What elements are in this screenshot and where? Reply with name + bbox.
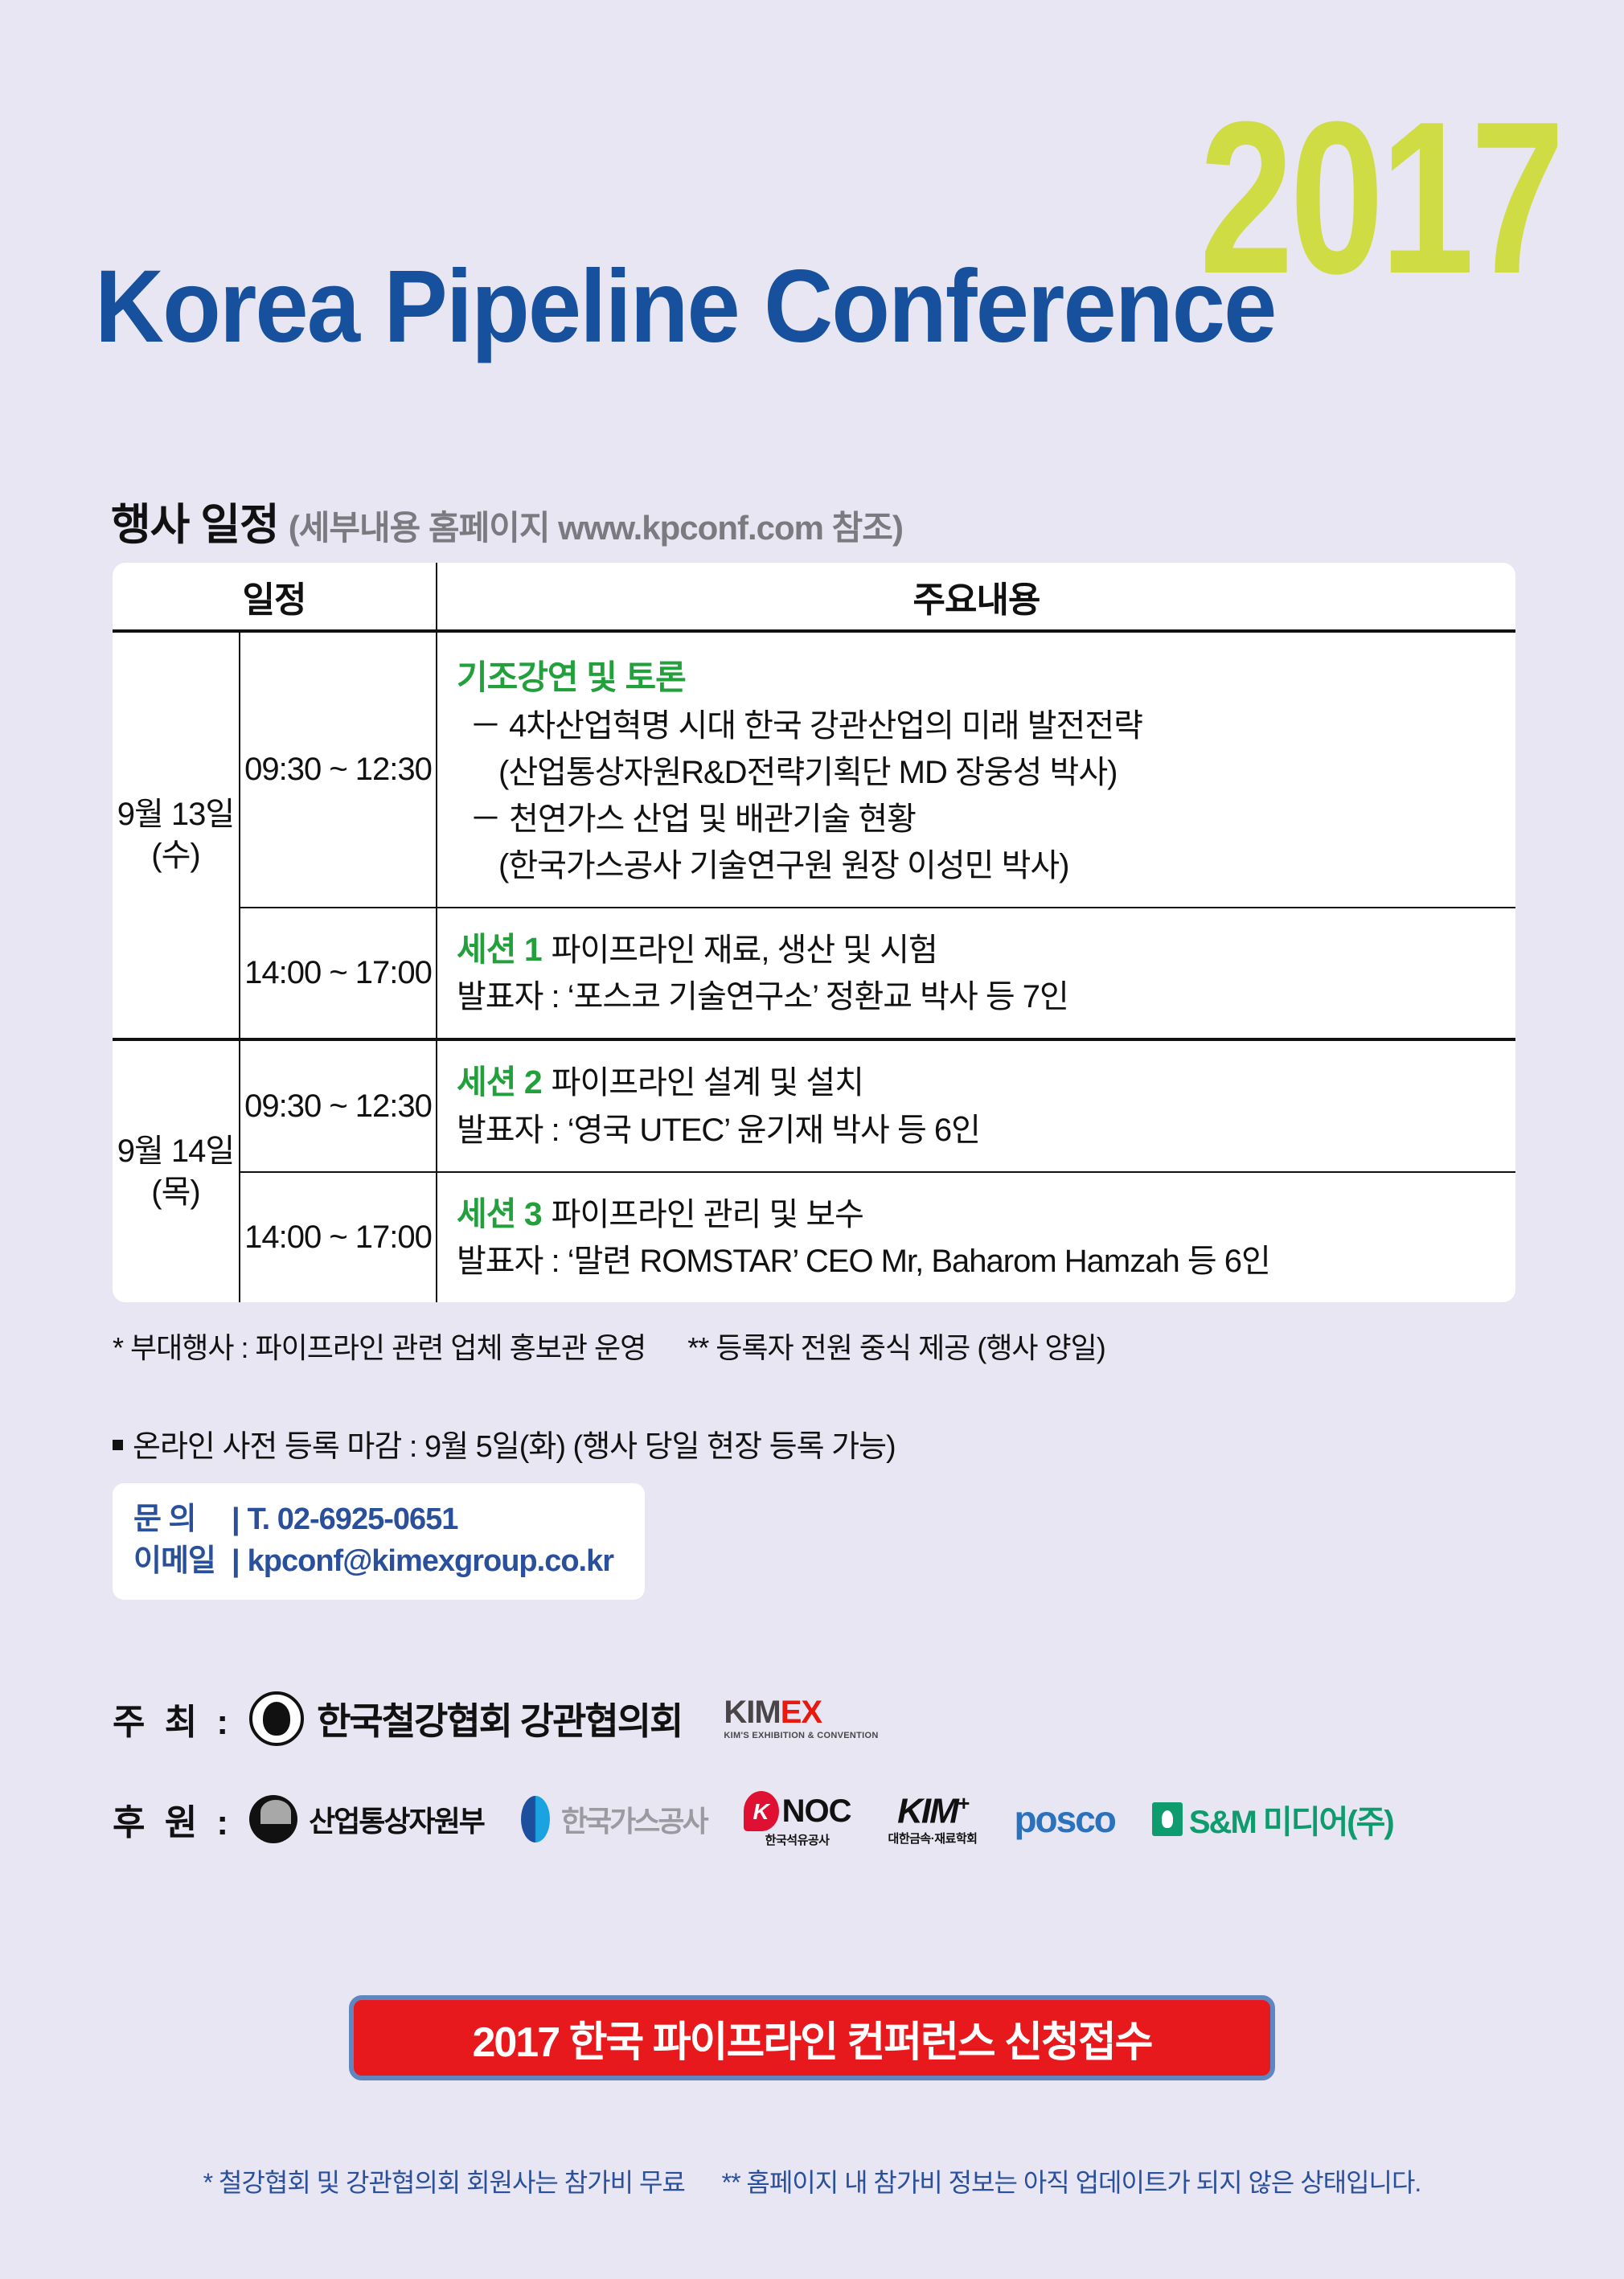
logo-motie: 산업통상자원부 [249, 1795, 484, 1843]
bottom-footnote: * 철강협회 및 강관협의회 회원사는 참가비 무료 ** 홈페이지 내 참가비… [0, 2162, 1624, 2199]
snm-emblem-icon [1152, 1802, 1183, 1836]
footnote-fee-update: ** 홈페이지 내 참가비 정보는 아직 업데이트가 되지 않은 상태입니다. [722, 2168, 1421, 2197]
session-title-line: 세션 1파이프라인 재료, 생산 및 시험 [457, 926, 1515, 973]
kim-word: KIM [897, 1791, 958, 1830]
session-tag: 세션 2 [457, 1064, 542, 1101]
session-topic: 파이프라인 재료, 생산 및 시험 [552, 933, 937, 968]
motie-taegeuk-icon [249, 1795, 297, 1843]
page-title: Korea Pipeline Conference [95, 256, 1275, 359]
session-tag: 세션 3 [457, 1195, 542, 1232]
schedule-heading: 행사 일정 (세부내용 홈페이지 www.kpconf.com 참조) [111, 489, 903, 552]
kimex-tagline: KIM'S EXHIBITION & CONVENTION [724, 1732, 878, 1740]
knoc-subtitle: 한국석유공사 [765, 1834, 830, 1847]
contact-email-label: 이메일 [133, 1541, 224, 1583]
kimex-kim: KIM [724, 1695, 780, 1730]
date-line-2: (목) [113, 1172, 239, 1213]
logo-kimex: KIMEX KIM'S EXHIBITION & CONVENTION [724, 1696, 878, 1740]
logo-posco: posco [1014, 1797, 1114, 1841]
logo-kogas: 한국가스공사 [521, 1796, 707, 1842]
table-row: 14:00 ~ 17:00 세션 1파이프라인 재료, 생산 및 시험 발표자 … [113, 908, 1515, 1039]
motie-name: 산업통상자원부 [309, 1798, 484, 1840]
keynote-line-2: (산업통상자원R&D전략기획단 MD 장웅성 박사) [457, 749, 1515, 796]
table-row: 14:00 ~ 17:00 세션 3파이프라인 관리 및 보수 발표자 : ‘말… [113, 1172, 1515, 1302]
session-speaker: 발표자 : ‘영국 UTEC’ 윤기재 박사 등 6인 [457, 1107, 1515, 1154]
table-row: 9월 13일 (수) 09:30 ~ 12:30 기조강연 및 토론 － 4차산… [113, 631, 1515, 908]
logo-knoc: NOC 한국석유공사 [744, 1791, 851, 1847]
contact-phone-value[interactable]: T. 02-6925-0651 [248, 1502, 458, 1536]
contact-phone-row: 문 의|T. 02-6925-0651 [133, 1499, 624, 1541]
date-line-1: 9월 14일 [113, 1131, 239, 1172]
register-button-label: 2017 한국 파이프라인 컨퍼런스 신청접수 [472, 2008, 1151, 2068]
session-tag: 세션 1 [457, 931, 542, 968]
table-row: 9월 14일 (목) 09:30 ~ 12:30 세션 2파이프라인 설계 및 … [113, 1039, 1515, 1171]
keynote-line-1: － 4차산업혁명 시대 한국 강관산업의 미래 발전전략 [457, 703, 1515, 749]
session-speaker: 발표자 : ‘포스코 기술연구소’ 정환교 박사 등 7인 [457, 973, 1515, 1020]
logo-ksa: 한국철강협회 강관협의회 [249, 1691, 682, 1746]
kogas-symbol-icon [521, 1796, 550, 1842]
keynote-line-4: (한국가스공사 기술연구원 원장 이성민 박사) [457, 842, 1515, 889]
support-label: 후 원 : [113, 1793, 233, 1845]
logo-kim-plus: KIM+ 대한금속·재료학회 [888, 1793, 978, 1846]
kim-wordmark: KIM+ [897, 1793, 968, 1830]
host-name: 한국철강협회 강관협의회 [317, 1692, 682, 1745]
footnote-free-members: * 철강협회 및 강관협의회 회원사는 참가비 무료 [203, 2168, 685, 2197]
snm-name: S&M 미디어(주) [1189, 1796, 1393, 1842]
table-footnotes: * 부대행사 : 파이프라인 관련 업체 홍보관 운영 ** 등록자 전원 중식… [113, 1325, 1105, 1367]
supporters-section: 후 원 : 산업통상자원부 한국가스공사 NOC 한국석유공사 KIM+ [113, 1777, 1393, 1861]
title-block: 2017 Korea Pipeline Conference [0, 0, 1624, 418]
divider-pipe-icon: | [232, 1502, 240, 1536]
cell-content-keynote: 기조강연 및 토론 － 4차산업혁명 시대 한국 강관산업의 미래 발전전략 (… [437, 631, 1515, 908]
table-header-row: 일정 주요내용 [113, 563, 1515, 631]
cell-date-sep14: 9월 14일 (목) [113, 1039, 240, 1302]
cell-content-session2: 세션 2파이프라인 설계 및 설치 발표자 : ‘영국 UTEC’ 윤기재 박사… [437, 1039, 1515, 1171]
host-label: 주 최 : [113, 1693, 233, 1744]
date-line-1: 9월 13일 [113, 794, 239, 835]
divider-pipe-icon: | [232, 1544, 240, 1578]
column-header-content: 주요내용 [437, 563, 1515, 631]
cell-time: 09:30 ~ 12:30 [240, 1039, 437, 1171]
session-topic: 파이프라인 설계 및 설치 [552, 1065, 863, 1101]
footnote-lunch: ** 등록자 전원 중식 제공 (행사 양일) [687, 1331, 1105, 1364]
pre-registration-text: 온라인 사전 등록 마감 : 9월 5일(화) (행사 당일 현장 등록 가능) [133, 1430, 896, 1464]
contact-box: 문 의|T. 02-6925-0651 이메일|kpconf@kimexgrou… [113, 1483, 645, 1600]
contact-email-value[interactable]: kpconf@kimexgroup.co.kr [248, 1544, 613, 1578]
session-title-line: 세션 2파이프라인 설계 및 설치 [457, 1059, 1515, 1106]
poster-root: 2017 Korea Pipeline Conference 행사 일정 (세부… [0, 0, 1624, 2279]
register-button[interactable]: 2017 한국 파이프라인 컨퍼런스 신청접수 [349, 1995, 1275, 2080]
knoc-word: NOC [782, 1795, 851, 1827]
schedule-heading-bold: 행사 일정 [111, 489, 279, 552]
session-title-line: 세션 3파이프라인 관리 및 보수 [457, 1191, 1515, 1238]
logo-snm-media: S&M 미디어(주) [1152, 1796, 1393, 1842]
pre-registration-note: 온라인 사전 등록 마감 : 9월 5일(화) (행사 당일 현장 등록 가능) [113, 1421, 896, 1465]
keynote-title: 기조강연 및 토론 [457, 650, 1515, 699]
cell-time: 14:00 ~ 17:00 [240, 1172, 437, 1302]
session-topic: 파이프라인 관리 및 보수 [552, 1197, 863, 1232]
footnote-side-event: * 부대행사 : 파이프라인 관련 업체 홍보관 운영 [113, 1331, 646, 1364]
kim-plus-icon: + [958, 1791, 968, 1815]
cell-time: 09:30 ~ 12:30 [240, 631, 437, 908]
cell-content-session1: 세션 1파이프라인 재료, 생산 및 시험 발표자 : ‘포스코 기술연구소’ … [437, 908, 1515, 1039]
cell-date-sep13: 9월 13일 (수) [113, 631, 240, 1039]
ksa-emblem-icon [249, 1691, 304, 1746]
schedule-heading-sub: (세부내용 홈페이지 www.kpconf.com 참조) [289, 501, 903, 550]
kogas-name: 한국가스공사 [561, 1798, 707, 1840]
cell-time: 14:00 ~ 17:00 [240, 908, 437, 1039]
knoc-k-icon [744, 1791, 779, 1831]
session-speaker: 발표자 : ‘말련 ROMSTAR’ CEO Mr, Baharom Hamza… [457, 1238, 1515, 1285]
keynote-line-3: － 천연가스 산업 및 배관기술 현황 [457, 796, 1515, 842]
contact-email-row: 이메일|kpconf@kimexgroup.co.kr [133, 1541, 624, 1583]
square-bullet-icon [113, 1440, 123, 1450]
schedule-table: 일정 주요내용 9월 13일 (수) 09:30 ~ 12:30 기조강연 및 … [113, 563, 1515, 1302]
kimex-wordmark: KIMEX [724, 1696, 878, 1728]
kim-subtitle: 대한금속·재료학회 [888, 1833, 978, 1845]
host-section: 주 최 : 한국철강협회 강관협의회 KIMEX KIM'S EXHIBITIO… [113, 1676, 879, 1760]
column-header-date: 일정 [113, 563, 437, 631]
kimex-ex: EX [781, 1695, 822, 1730]
contact-phone-label: 문 의 [133, 1499, 224, 1541]
date-line-2: (수) [113, 835, 239, 876]
cell-content-session3: 세션 3파이프라인 관리 및 보수 발표자 : ‘말련 ROMSTAR’ CEO… [437, 1172, 1515, 1302]
